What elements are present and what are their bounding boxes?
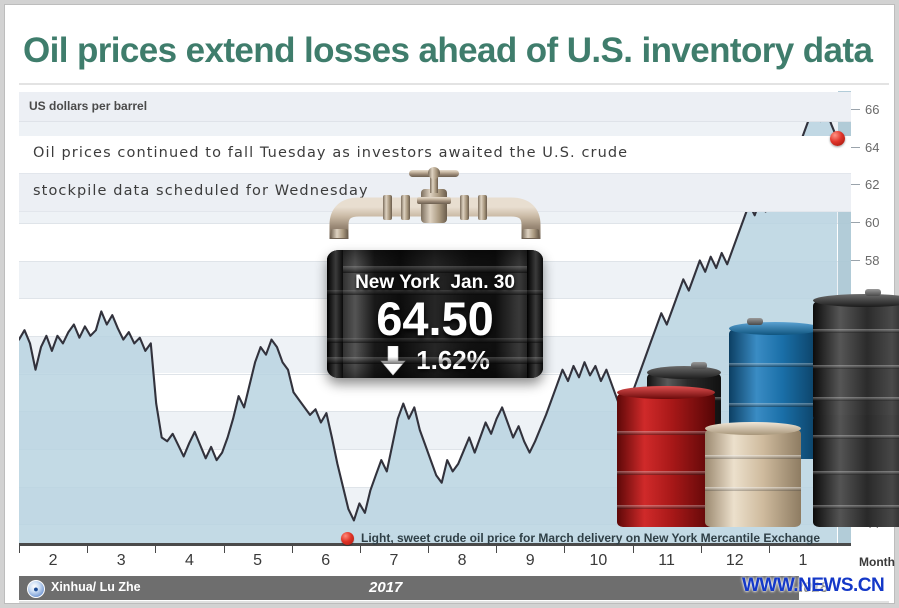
infographic-root: Oil prices extend losses ahead of U.S. i… [0,0,899,608]
y-tick-label: 60 [865,216,879,230]
last-point-marker [830,131,845,146]
x-tick-mark [224,546,225,553]
x-tick-label: 11 [647,552,687,570]
x-tick-label: 2 [33,552,73,570]
x-tick-label: 4 [169,552,209,570]
x-tick-label: 5 [238,552,278,570]
barrel-top [705,422,801,435]
price-callout: New York Jan. 30 64.50 1.62% [305,167,565,387]
x-tick-label: 8 [442,552,482,570]
arrow-down-icon [380,346,406,376]
large-black-barrel [813,301,899,421]
title-divider [19,83,889,85]
footer-year-left: 2017 [369,579,402,596]
x-tick-label: 12 [715,552,755,570]
lower-black-barrel [813,415,899,527]
callout-city: New York [355,272,440,293]
barrel-top [729,322,821,335]
barrel-cluster-graphic [617,301,857,527]
site-watermark: WWW.NEWS.CN [742,575,884,597]
beige-barrel [705,429,801,527]
y-axis-tick: 66 [851,103,899,117]
unit-label-box: US dollars per barrel [19,92,851,122]
red-barrel [617,393,715,527]
y-tick-label: 64 [865,141,879,155]
footer-bar: ● Xinhua/ Lu Zhe 2017 [19,576,799,600]
xinhua-logo-icon: ● [27,580,45,598]
legend-marker-icon [341,532,354,545]
x-tick-label: 6 [306,552,346,570]
y-tick-mark [851,109,860,110]
y-axis-tick: 62 [851,178,899,192]
description-text-1: Oil prices continued to fall Tuesday as … [33,145,628,161]
x-tick-mark [155,546,156,553]
barrel-top [647,366,721,379]
barrel-cap-icon [691,362,707,369]
callout-price: 64.50 [327,294,543,344]
price-barrel: New York Jan. 30 64.50 1.62% [327,250,543,378]
infographic-card: Oil prices extend losses ahead of U.S. i… [5,5,894,603]
y-tick-label: 62 [865,178,879,192]
callout-city-date: New York Jan. 30 [327,272,543,294]
x-tick-label: 7 [374,552,414,570]
x-tick-mark [292,546,293,553]
x-tick-mark [87,546,88,553]
x-axis-title: Month [859,555,895,569]
x-axis: Month 234567891011121 [19,546,899,574]
y-axis-tick: 64 [851,141,899,155]
page-title: Oil prices extend losses ahead of U.S. i… [23,27,883,75]
callout-change-percent: 1.62% [416,345,490,376]
footer-credit: Xinhua/ Lu Zhe [51,580,141,594]
x-tick-mark [19,546,20,553]
callout-date: Jan. 30 [450,272,514,293]
y-tick-mark [851,184,860,185]
legend-label: Light, sweet crude oil price for March d… [361,531,820,545]
y-axis-tick: 58 [851,254,899,268]
callout-change-row: 1.62% [327,345,543,376]
y-axis-tick: 60 [851,216,899,230]
barrel-cap-icon [865,289,881,296]
x-tick-label: 3 [101,552,141,570]
footer-divider [19,601,889,603]
x-tick-label: 1 [783,552,823,570]
y-tick-label: 58 [865,254,879,268]
x-tick-label: 10 [578,552,618,570]
x-tick-label: 9 [510,552,550,570]
y-tick-mark [851,147,860,148]
chart-legend: Light, sweet crude oil price for March d… [341,528,820,548]
barrel-cap-icon [747,318,763,325]
y-tick-mark [851,260,860,261]
y-tick-label: 66 [865,103,879,117]
y-tick-mark [851,222,860,223]
barrel-top [813,294,899,307]
barrel-top [617,386,715,399]
unit-label: US dollars per barrel [29,99,147,113]
